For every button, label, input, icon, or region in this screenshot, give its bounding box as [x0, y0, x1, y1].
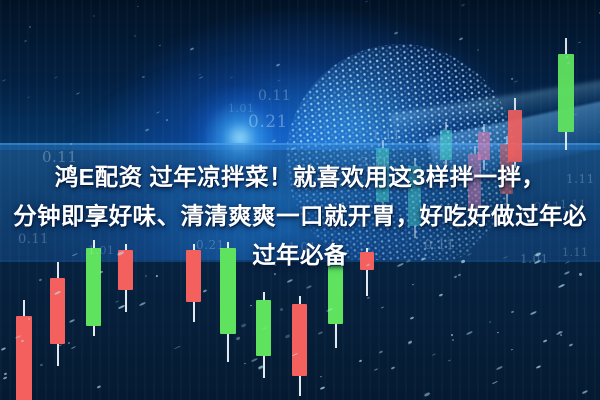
particle-dot — [199, 76, 203, 79]
particle-dot — [116, 251, 123, 256]
particle-dot — [567, 62, 571, 65]
particle-dot — [320, 386, 326, 390]
particle-dot — [159, 45, 161, 47]
particle-dot — [558, 284, 565, 288]
particle-dot — [285, 334, 290, 338]
particle-dot — [93, 15, 95, 18]
particle-dot — [497, 332, 499, 334]
particle-dot — [54, 76, 58, 79]
particle-dot — [543, 339, 547, 342]
particle-dot — [70, 142, 73, 145]
particle-dot — [461, 3, 466, 7]
particle-dot — [563, 271, 569, 275]
particle-dot — [503, 256, 508, 259]
particle-dot — [489, 321, 492, 323]
particle-dot — [535, 252, 541, 257]
particle-dot — [511, 77, 513, 79]
particle-dot — [156, 275, 159, 278]
particle-dot — [578, 42, 581, 44]
particle-dot — [390, 366, 394, 370]
particle-dot — [424, 392, 430, 397]
particle-dot — [579, 272, 583, 276]
particle-dot — [301, 258, 308, 263]
particle-dot — [381, 307, 384, 309]
particle-dot — [287, 279, 293, 284]
particle-dot — [305, 285, 311, 290]
particle-dot — [319, 375, 322, 377]
particle-dot — [477, 48, 479, 51]
particle-dot — [471, 92, 474, 95]
particle-dot — [318, 331, 323, 335]
particle-dot — [412, 284, 414, 286]
particle-dot — [406, 259, 412, 263]
particle-dot — [514, 80, 518, 83]
particle-dot — [76, 92, 80, 95]
particle-dot — [24, 40, 27, 43]
particle-dot — [70, 346, 76, 350]
particle-dot — [68, 342, 71, 345]
particle-dot — [97, 386, 101, 390]
particle-dot — [582, 390, 589, 395]
particle-dot — [166, 118, 169, 121]
particle-dot — [426, 54, 430, 57]
particle-dot — [530, 311, 537, 316]
particle-dot — [243, 362, 246, 364]
particle-dot — [4, 373, 7, 376]
particle-dot — [565, 261, 570, 264]
particle-dot — [273, 272, 276, 275]
particle-dot — [467, 253, 472, 256]
particle-dot — [379, 350, 384, 354]
particle-dot — [59, 345, 62, 347]
particle-dot — [145, 275, 148, 278]
particle-dot — [568, 343, 573, 347]
particle-dot — [511, 348, 514, 350]
particle-dot — [531, 143, 534, 146]
particle-dot — [421, 257, 427, 261]
particle-dot — [511, 311, 514, 314]
particle-dot — [3, 376, 7, 379]
particle-dot — [156, 111, 160, 114]
particle-dot — [251, 357, 258, 362]
particle-dot — [142, 76, 146, 79]
banner-image: 0.110.210.111.113.311.011.111.110.110.11… — [0, 0, 600, 400]
particle-dot — [366, 263, 370, 266]
particle-dot — [367, 297, 370, 300]
particle-dot — [134, 35, 136, 37]
particle-dot — [559, 334, 562, 337]
particle-dot — [326, 307, 333, 312]
particle-dot — [374, 368, 379, 371]
particle-dot — [240, 323, 246, 328]
particle-dot — [39, 279, 42, 282]
particle-dot — [27, 96, 30, 98]
particle-dot — [276, 63, 281, 67]
particle-dot — [451, 334, 454, 337]
particle-dot — [21, 340, 25, 343]
particle-dot — [277, 79, 281, 82]
particle-dot — [236, 336, 241, 340]
particle-dot — [534, 260, 541, 264]
particle-dot — [566, 55, 569, 58]
particle-dot — [190, 47, 194, 51]
particle-dot — [397, 262, 404, 267]
particle-dot — [410, 316, 415, 320]
particle-dot — [454, 276, 457, 279]
particle-dot — [230, 77, 233, 79]
particle-dot — [100, 271, 104, 274]
particle-dot — [2, 80, 6, 83]
particle-dot — [492, 381, 498, 385]
particle-dot — [536, 365, 541, 369]
particle-dot — [365, 1, 368, 4]
particle-dot — [338, 106, 340, 108]
particle-dot — [118, 305, 125, 309]
particle-dot — [29, 25, 31, 27]
particle-dot — [72, 253, 78, 257]
particle-dot — [15, 334, 21, 338]
particle-dot — [292, 353, 298, 357]
particle-dot — [439, 294, 444, 298]
sparkle-particles — [0, 0, 600, 400]
particle-dot — [250, 305, 253, 307]
particle-dot — [28, 318, 31, 320]
particle-dot — [144, 128, 148, 131]
particle-dot — [291, 147, 294, 150]
particle-dot — [258, 366, 264, 370]
particle-dot — [458, 37, 462, 40]
particle-dot — [174, 346, 181, 350]
particle-dot — [432, 353, 436, 356]
particle-dot — [272, 139, 276, 143]
particle-dot — [203, 289, 207, 293]
particle-dot — [460, 259, 465, 263]
particle-dot — [115, 300, 120, 303]
particle-dot — [457, 273, 461, 276]
particle-dot — [465, 330, 472, 335]
particle-dot — [139, 301, 146, 306]
particle-dot — [54, 290, 61, 295]
particle-dot — [69, 319, 75, 323]
particle-dot — [39, 364, 43, 367]
particle-dot — [137, 6, 139, 8]
particle-dot — [452, 338, 455, 341]
particle-dot — [393, 31, 398, 34]
particle-dot — [280, 308, 284, 312]
particle-dot — [1, 347, 6, 351]
particle-dot — [448, 360, 451, 362]
particle-dot — [496, 365, 503, 370]
particle-dot — [273, 263, 276, 266]
particle-dot — [574, 113, 578, 116]
particle-dot — [359, 360, 362, 363]
particle-dot — [262, 327, 267, 330]
